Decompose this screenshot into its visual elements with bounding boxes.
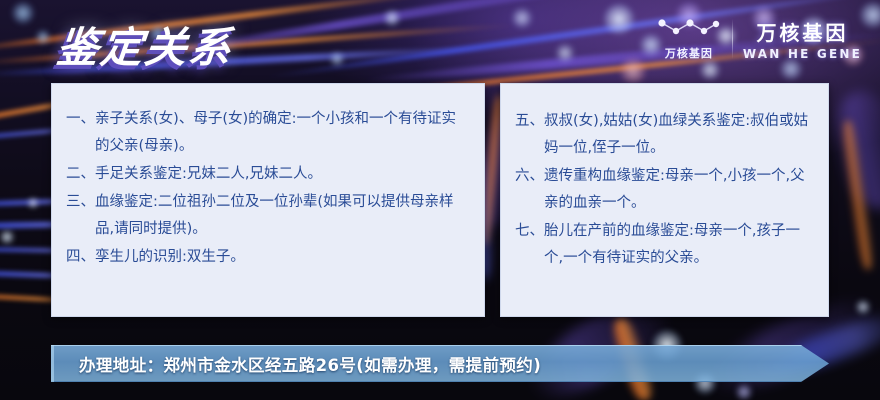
address-text: 办理地址：郑州市金水区经五路26号(如需办理，需提前预约) [79,345,789,382]
list-item-number: 七、 [515,218,544,272]
panel-right-content: 五、 叔叔(女),姑姑(女)血绿关系鉴定:叔伯或姑妈一位,侄子一位。 六、 遗传… [501,84,828,272]
list-item-number: 五、 [515,108,544,162]
list-item-number: 四、 [66,244,95,271]
list-item-text: 血缘鉴定:二位祖孙二位及一位孙辈(如果可以提供母亲样品,请同时提供)。 [95,189,470,243]
list-item-number: 六、 [515,163,544,217]
list-item-text: 叔叔(女),姑姑(女)血绿关系鉴定:叔伯或姑妈一位,侄子一位。 [544,108,814,162]
list-item-text: 遗传重构血缘鉴定:母亲一个,小孩一个,父亲的血亲一个。 [544,163,814,217]
page-title: 鉴定关系 [54,14,236,75]
list-item-text: 亲子关系(女)、母子(女)的确定:一个小孩和一个有待证实的父亲(母亲)。 [95,106,470,160]
relationship-list-panel-left: 一、 亲子关系(女)、母子(女)的确定:一个小孩和一个有待证实的父亲(母亲)。 … [51,83,485,317]
brand-name-en: WAN HE GENE [743,47,862,61]
list-item-text: 孪生儿的识别:双生子。 [95,244,470,271]
list-item: 四、 孪生儿的识别:双生子。 [66,244,470,271]
logo-wordmark: 万核基因 WAN HE GENE [743,17,862,61]
list-item: 五、 叔叔(女),姑姑(女)血绿关系鉴定:叔伯或姑妈一位,侄子一位。 [515,108,814,162]
list-item-text: 手足关系鉴定:兄妹二人,兄妹二人。 [95,161,470,188]
address-banner: 办理地址：郑州市金水区经五路26号(如需办理，需提前预约) [51,345,829,382]
list-item: 三、 血缘鉴定:二位祖孙二位及一位孙辈(如果可以提供母亲样品,请同时提供)。 [66,189,470,243]
brand-logo: 万核基因 万核基因 WAN HE GENE [656,8,862,70]
panel-left-content: 一、 亲子关系(女)、母子(女)的确定:一个小孩和一个有待证实的父亲(母亲)。 … [52,84,484,271]
list-item-number: 二、 [66,161,95,188]
logo-divider [732,19,733,59]
list-item-text: 胎儿在产前的血缘鉴定:母亲一个,孩子一个,一个有待证实的父亲。 [544,218,814,272]
list-item: 六、 遗传重构血缘鉴定:母亲一个,小孩一个,父亲的血亲一个。 [515,163,814,217]
list-item: 一、 亲子关系(女)、母子(女)的确定:一个小孩和一个有待证实的父亲(母亲)。 [66,106,470,160]
address-banner-left-edge [51,345,54,382]
logo-mark: 万核基因 [656,17,722,61]
poster-canvas: 鉴定关系 [0,0,880,400]
relationship-list-panel-right: 五、 叔叔(女),姑姑(女)血绿关系鉴定:叔伯或姑妈一位,侄子一位。 六、 遗传… [500,83,829,317]
list-item-number: 一、 [66,106,95,160]
brand-name-cn: 万核基因 [756,17,848,46]
list-item-number: 三、 [66,189,95,243]
logo-mark-label: 万核基因 [665,45,713,61]
list-item: 二、 手足关系鉴定:兄妹二人,兄妹二人。 [66,161,470,188]
molecule-icon [656,17,722,43]
list-item: 七、 胎儿在产前的血缘鉴定:母亲一个,孩子一个,一个有待证实的父亲。 [515,218,814,272]
